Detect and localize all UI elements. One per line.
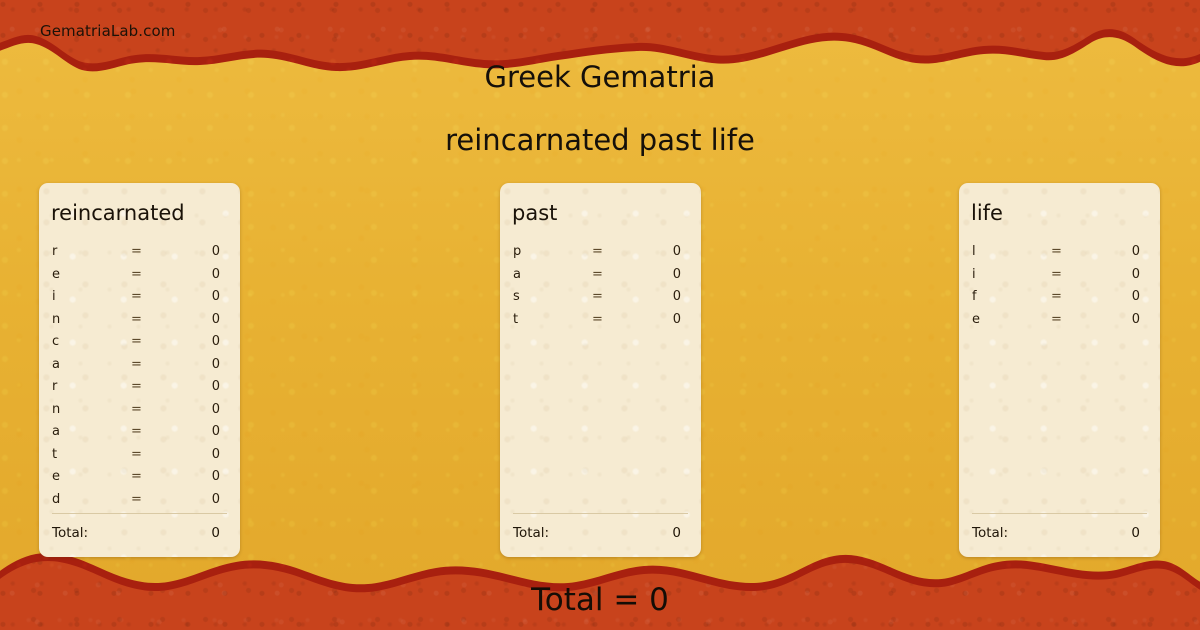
equals-sign: = [131,267,169,282]
word-cards-container: reincarnated r = 0 e = 0 i = [0,183,1200,557]
site-watermark: GematriaLab.com [40,22,175,40]
word-card: life l = 0 i = 0 f = 0 [959,183,1160,557]
letter-row: p = 0 [500,244,701,267]
divider [972,513,1147,514]
equals-sign: = [592,289,630,304]
letter-row: d = 0 [39,492,240,515]
letter-row: e = 0 [39,267,240,290]
letter-row: i = 0 [959,267,1160,290]
letter-value: 0 [169,312,240,327]
word-card-title: past [512,201,557,225]
letter: t [500,312,592,327]
letter-row: a = 0 [39,357,240,380]
letter: n [39,312,131,327]
letter: a [500,267,592,282]
letter: i [39,289,131,304]
letter: l [959,244,1051,259]
equals-sign: = [131,357,169,372]
letter-row: a = 0 [500,267,701,290]
equals-sign: = [1051,312,1089,327]
letter-row: l = 0 [959,244,1160,267]
letter-value: 0 [1089,289,1160,304]
letter: e [39,469,131,484]
letter-row: n = 0 [39,402,240,425]
equals-sign: = [1051,267,1089,282]
total-value: 0 [1131,525,1147,541]
letter-value: 0 [169,357,240,372]
poster-content: GematriaLab.com Greek Gematria reincarna… [0,0,1200,630]
letter-value: 0 [169,402,240,417]
word-card-footer: Total: 0 [52,513,227,541]
letter-value: 0 [169,244,240,259]
letter-row: a = 0 [39,424,240,447]
equals-sign: = [131,289,169,304]
letter: c [39,334,131,349]
letter: f [959,289,1051,304]
letter-row: e = 0 [39,469,240,492]
letter-value: 0 [169,492,240,507]
letter-row: n = 0 [39,312,240,335]
letter-value: 0 [169,447,240,462]
word-card-footer: Total: 0 [513,513,688,541]
letter-value: 0 [169,334,240,349]
letter: e [959,312,1051,327]
letter-row: r = 0 [39,244,240,267]
letter: t [39,447,131,462]
letter-value: 0 [169,469,240,484]
letter-row: i = 0 [39,289,240,312]
letter: r [39,379,131,394]
equals-sign: = [1051,289,1089,304]
grand-total: Total = 0 [0,582,1200,618]
word-card-title: reincarnated [51,201,185,225]
divider [513,513,688,514]
letter-value: 0 [169,289,240,304]
total-label: Total: [513,525,672,541]
letter-value: 0 [169,424,240,439]
query-phrase: reincarnated past life [0,123,1200,157]
letter-value: 0 [630,244,701,259]
equals-sign: = [131,492,169,507]
equals-sign: = [131,334,169,349]
equals-sign: = [1051,244,1089,259]
total-value: 0 [211,525,227,541]
letter-value: 0 [1089,267,1160,282]
letter: a [39,357,131,372]
letter-value: 0 [169,379,240,394]
letter-value-list: l = 0 i = 0 f = 0 e [959,244,1160,334]
total-label: Total: [52,525,211,541]
letter: i [959,267,1051,282]
letter-value-list: r = 0 e = 0 i = 0 n [39,244,240,514]
equals-sign: = [131,424,169,439]
equals-sign: = [131,312,169,327]
equals-sign: = [131,244,169,259]
letter-row: t = 0 [500,312,701,335]
equals-sign: = [131,379,169,394]
letter-value: 0 [630,267,701,282]
equals-sign: = [131,402,169,417]
letter-row: e = 0 [959,312,1160,335]
letter-value: 0 [1089,244,1160,259]
letter-row: c = 0 [39,334,240,357]
equals-sign: = [592,244,630,259]
letter-value: 0 [1089,312,1160,327]
word-card: past p = 0 a = 0 s = 0 [500,183,701,557]
letter-row: f = 0 [959,289,1160,312]
letter: s [500,289,592,304]
letter-value: 0 [630,312,701,327]
equals-sign: = [131,447,169,462]
divider [52,513,227,514]
word-card: reincarnated r = 0 e = 0 i = [39,183,240,557]
letter: e [39,267,131,282]
equals-sign: = [131,469,169,484]
letter: p [500,244,592,259]
total-label: Total: [972,525,1131,541]
poster-canvas: GematriaLab.com Greek Gematria reincarna… [0,0,1200,630]
letter-value-list: p = 0 a = 0 s = 0 t [500,244,701,334]
letter: n [39,402,131,417]
letter-row: t = 0 [39,447,240,470]
equals-sign: = [592,312,630,327]
page-title: Greek Gematria [0,60,1200,94]
letter-value: 0 [630,289,701,304]
letter-value: 0 [169,267,240,282]
equals-sign: = [592,267,630,282]
word-card-title: life [971,201,1003,225]
letter: a [39,424,131,439]
letter-row: s = 0 [500,289,701,312]
letter: r [39,244,131,259]
letter-row: r = 0 [39,379,240,402]
word-card-footer: Total: 0 [972,513,1147,541]
letter: d [39,492,131,507]
total-value: 0 [672,525,688,541]
